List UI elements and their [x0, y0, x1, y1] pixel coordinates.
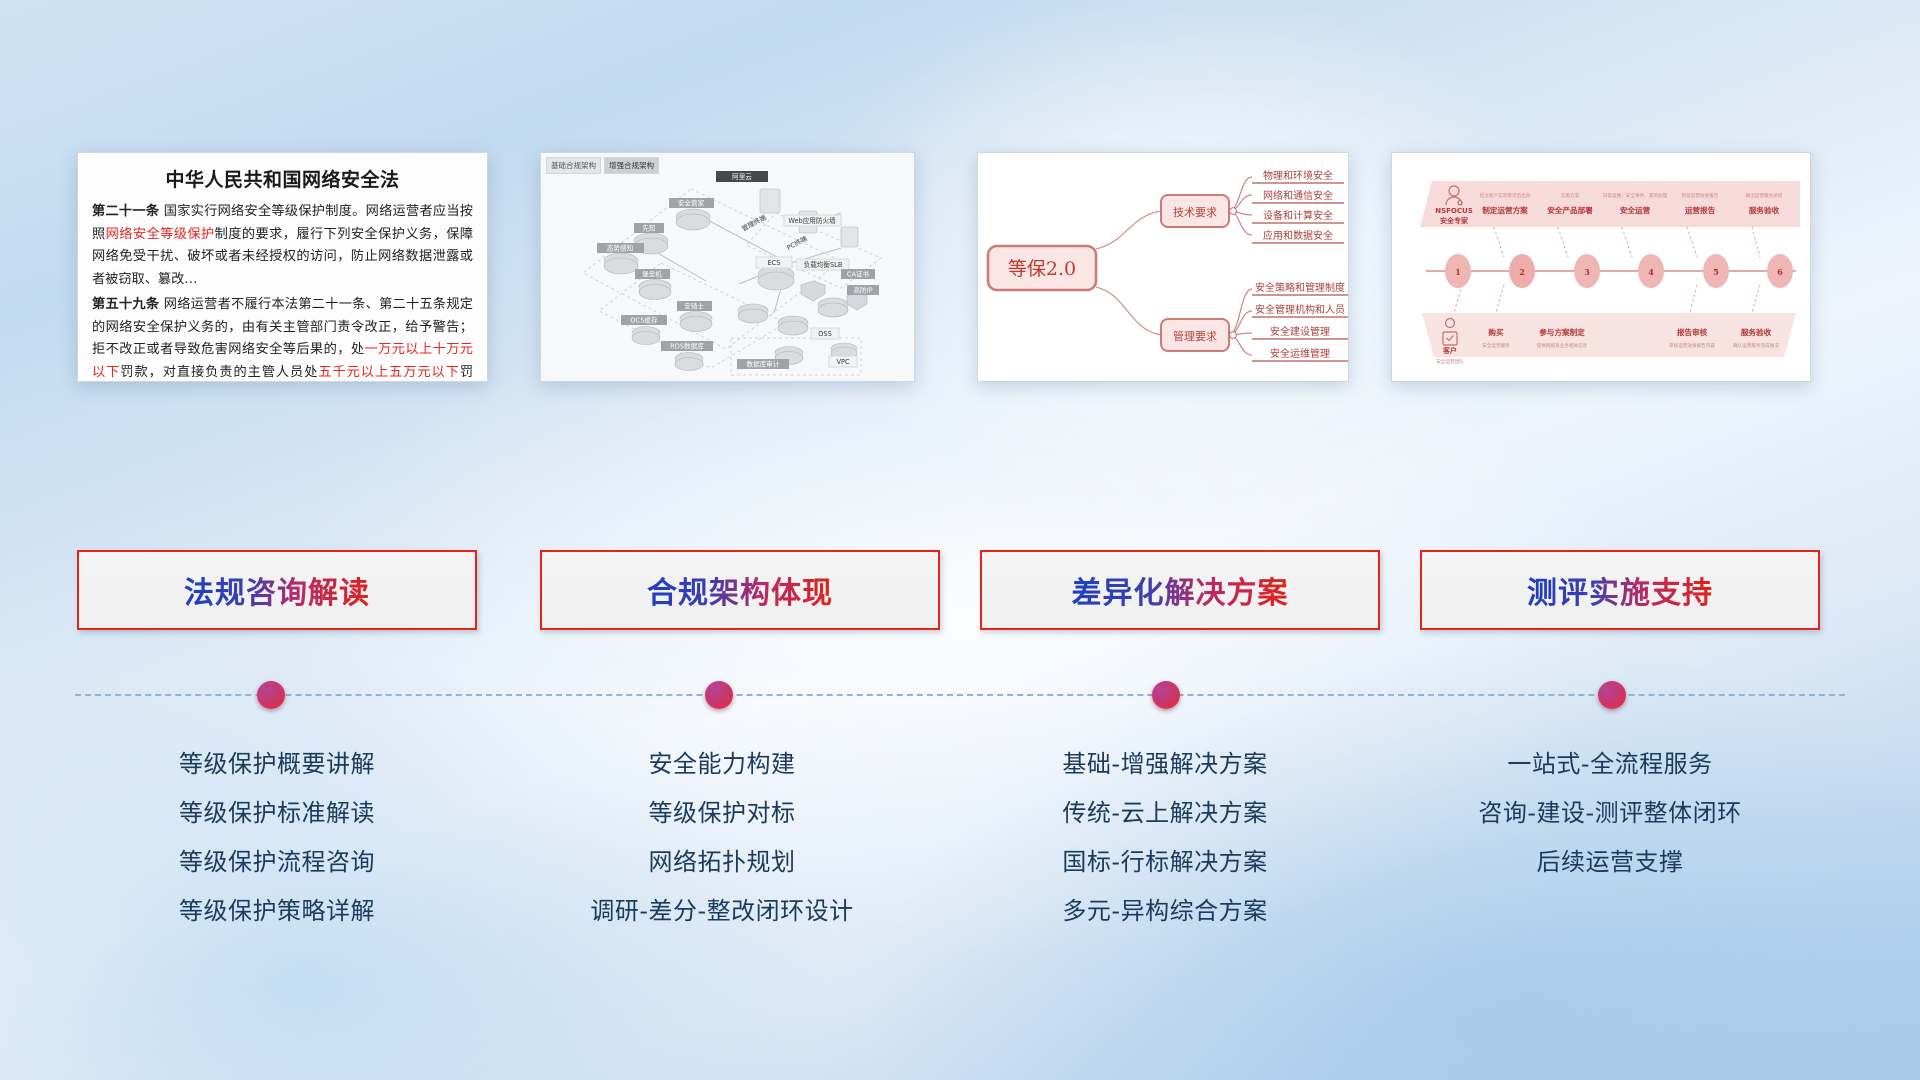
section-header-label-3: 差异化解决方案 [1072, 568, 1289, 612]
section-header-label-2: 合规架构体现 [647, 568, 833, 612]
section-header-label-4: 测评实施支持 [1527, 568, 1713, 612]
rail-dot-4[interactable] [1598, 681, 1626, 709]
rail-dot-1[interactable] [257, 681, 285, 709]
rail-dot-2[interactable] [705, 681, 733, 709]
slide-canvas: 中华人民共和国网络安全法 第二十一条 国家实行网络安全等级保护制度。网络运营者应… [0, 0, 1920, 1080]
list-item: 等级保护标准解读 [67, 789, 487, 838]
list-item: 多元-异构综合方案 [955, 887, 1375, 936]
list-item: 调研-差分-整改闭环设计 [512, 887, 932, 936]
section-header-label-1: 法规咨询解读 [184, 568, 370, 612]
section-header-box-2[interactable]: 合规架构体现 [540, 550, 940, 630]
section-headers: 法规咨询解读 合规架构体现 差异化解决方案 测评实施支持 等级保护概要讲解 等级… [0, 0, 1920, 1080]
list-item: 一站式-全流程服务 [1400, 740, 1820, 789]
list-item: 等级保护对标 [512, 789, 932, 838]
list-item: 等级保护概要讲解 [67, 740, 487, 789]
timeline-rail [75, 694, 1845, 696]
list-item: 国标-行标解决方案 [955, 838, 1375, 887]
list-item: 网络拓扑规划 [512, 838, 932, 887]
list-item: 等级保护流程咨询 [67, 838, 487, 887]
list-item: 等级保护策略详解 [67, 887, 487, 936]
section-header-box-3[interactable]: 差异化解决方案 [980, 550, 1380, 630]
list-item: 传统-云上解决方案 [955, 789, 1375, 838]
list-item: 咨询-建设-测评整体闭环 [1400, 789, 1820, 838]
rail-dot-3[interactable] [1152, 681, 1180, 709]
section-header-box-1[interactable]: 法规咨询解读 [77, 550, 477, 630]
section-items-column-4: 一站式-全流程服务 咨询-建设-测评整体闭环 后续运营支撑 [1400, 740, 1820, 887]
list-item: 基础-增强解决方案 [955, 740, 1375, 789]
section-items-column-2: 安全能力构建 等级保护对标 网络拓扑规划 调研-差分-整改闭环设计 [512, 740, 932, 936]
list-item: 后续运营支撑 [1400, 838, 1820, 887]
section-header-box-4[interactable]: 测评实施支持 [1420, 550, 1820, 630]
section-items-column-1: 等级保护概要讲解 等级保护标准解读 等级保护流程咨询 等级保护策略详解 [67, 740, 487, 936]
list-item: 安全能力构建 [512, 740, 932, 789]
section-items-column-3: 基础-增强解决方案 传统-云上解决方案 国标-行标解决方案 多元-异构综合方案 [955, 740, 1375, 936]
